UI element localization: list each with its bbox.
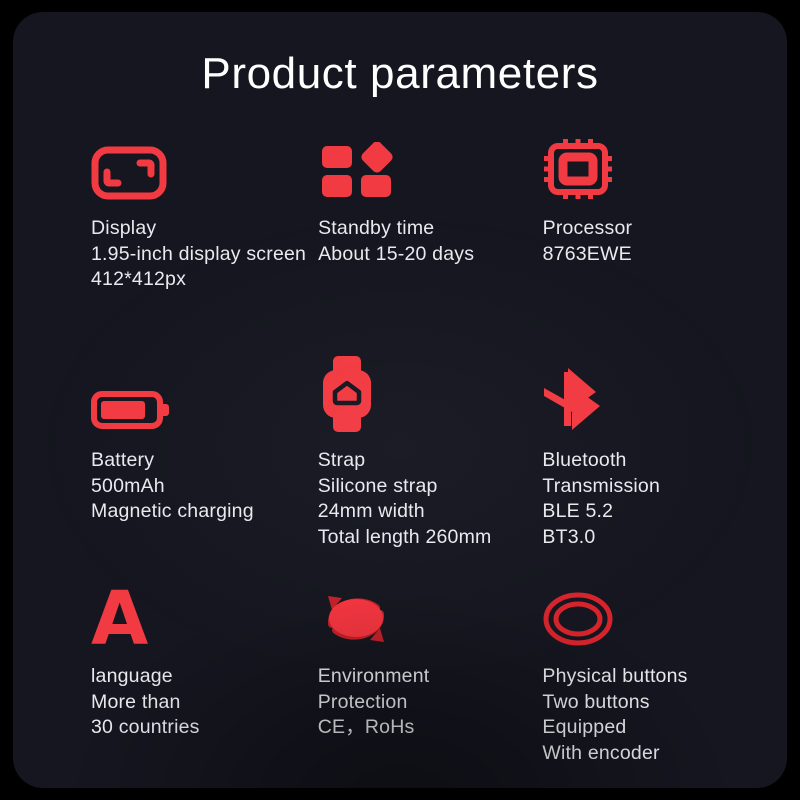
spec-text: Strap Silicone strap 24mm width Total le…: [318, 448, 533, 550]
spec-line: 1.95-inch display screen: [91, 242, 306, 268]
page-title: Product parameters: [13, 50, 787, 98]
spec-line: BLE 5.2: [542, 499, 759, 525]
spec-text: language More than 30 countries: [91, 664, 306, 741]
spec-item-display: Display 1.95-inch display screen 412*412…: [79, 138, 306, 370]
spec-line: More than: [91, 690, 306, 716]
recycle-environment-icon: [318, 586, 533, 648]
spec-line: Processor: [543, 216, 759, 242]
spec-text: Battery 500mAh Magnetic charging: [91, 448, 306, 525]
spec-line: 500mAh: [91, 474, 306, 500]
product-parameters-poster: Product parameters Display 1.95-inch dis…: [0, 0, 800, 800]
spec-line: 24mm width: [318, 499, 533, 525]
spec-line: Two buttons: [542, 690, 759, 716]
spec-item-processor: Processor 8763EWE: [533, 138, 759, 370]
spec-line: Bluetooth: [542, 448, 759, 474]
spec-line: With encoder: [542, 741, 759, 767]
spec-text: Physical buttons Two buttons Equipped Wi…: [542, 664, 759, 766]
spec-text: Environment Protection CE，RoHs: [318, 664, 533, 741]
spec-item-bluetooth: Bluetooth Transmission BLE 5.2 BT3.0: [532, 370, 759, 586]
standby-time-blocks-icon: [318, 138, 533, 200]
spec-line: 8763EWE: [543, 242, 759, 268]
spec-text: Processor 8763EWE: [543, 216, 759, 267]
spec-line: Physical buttons: [542, 664, 759, 690]
processor-chip-icon: [543, 138, 759, 200]
spec-line: 412*412px: [91, 267, 306, 293]
spec-row: Display 1.95-inch display screen 412*412…: [79, 138, 759, 370]
smartwatch-strap-icon: [318, 370, 533, 432]
spec-text: Bluetooth Transmission BLE 5.2 BT3.0: [542, 448, 759, 550]
spec-text: Standby time About 15-20 days: [318, 216, 533, 267]
poster-panel: Product parameters Display 1.95-inch dis…: [13, 12, 787, 788]
spec-item-environment-protection: Environment Protection CE，RoHs: [306, 586, 533, 766]
spec-item-language: A language More than 30 countries: [79, 586, 306, 766]
spec-grid: Display 1.95-inch display screen 412*412…: [79, 138, 759, 766]
spec-text: Display 1.95-inch display screen 412*412…: [91, 216, 306, 293]
spec-line: Standby time: [318, 216, 533, 242]
spec-line: Protection: [318, 690, 533, 716]
spec-line: CE，RoHs: [318, 715, 533, 741]
spec-line: Equipped: [542, 715, 759, 741]
spec-line: Silicone strap: [318, 474, 533, 500]
spec-line: Magnetic charging: [91, 499, 306, 525]
spec-item-standby-time: Standby time About 15-20 days: [306, 138, 533, 370]
spec-line: Environment: [318, 664, 533, 690]
spec-line: language: [91, 664, 306, 690]
spec-row: Battery 500mAh Magnetic charging: [79, 370, 759, 586]
spec-line: BT3.0: [542, 525, 759, 551]
spec-item-physical-buttons: Physical buttons Two buttons Equipped Wi…: [532, 586, 759, 766]
battery-icon: [91, 370, 306, 432]
spec-line: 30 countries: [91, 715, 306, 741]
spec-item-strap: Strap Silicone strap 24mm width Total le…: [306, 370, 533, 586]
spec-line: Total length 260mm: [318, 525, 533, 551]
spec-row: A language More than 30 countries: [79, 586, 759, 766]
spec-line: Display: [91, 216, 306, 242]
spec-line: About 15-20 days: [318, 242, 533, 268]
letter-a-glyph: A: [91, 590, 148, 648]
spec-line: Strap: [318, 448, 533, 474]
spec-line: Transmission: [542, 474, 759, 500]
letter-a-language-icon: A: [91, 586, 306, 648]
spec-item-battery: Battery 500mAh Magnetic charging: [79, 370, 306, 586]
physical-button-rings-icon: [542, 586, 759, 648]
spec-line: Battery: [91, 448, 306, 474]
display-expand-icon: [91, 138, 306, 200]
bluetooth-icon: [542, 370, 759, 432]
